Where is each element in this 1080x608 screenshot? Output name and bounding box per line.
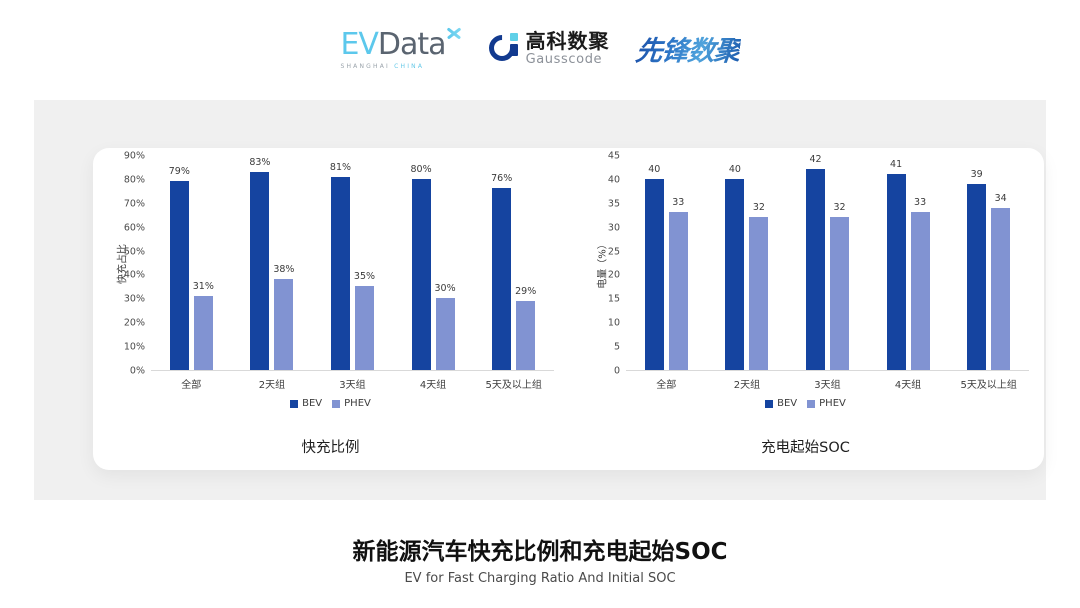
legend-swatch-icon [765, 400, 773, 408]
bar-value-label: 42 [809, 154, 821, 165]
y-tick-label: 45 [608, 151, 620, 162]
y-tick-label: 80% [124, 174, 145, 185]
bars-region: 40334032423241333934 [626, 156, 1029, 371]
bar-group: 76%29% [473, 156, 554, 370]
bar-bev[interactable]: 79% [170, 155, 189, 370]
y-tick-label: 35 [608, 198, 620, 209]
x-axis-labels: 全部2天组3天组4天组5天及以上组 [151, 376, 554, 391]
legend-swatch-icon [807, 400, 815, 408]
x-tick-label: 3天组 [312, 376, 393, 391]
x-tick-label: 2天组 [232, 376, 313, 391]
bar-fill [887, 174, 906, 370]
bar-value-label: 40 [648, 164, 660, 175]
evdata-logo: EV Data SHANGHAI CHINA [340, 27, 462, 70]
legend-item-phev[interactable]: PHEV [807, 398, 846, 409]
page-subtitle: EV for Fast Charging Ratio And Initial S… [0, 571, 1080, 586]
bar-fill [355, 286, 374, 370]
y-tick-label: 90% [124, 151, 145, 162]
bar-fill [806, 169, 825, 370]
chart-legend: BEVPHEV [568, 398, 1043, 409]
bar-value-label: 33 [914, 197, 926, 208]
chart-initial-soc: 电量（%）05101520253035404540334032423241333… [568, 148, 1043, 470]
bar-group: 4032 [707, 156, 788, 370]
y-tick-label: 0% [130, 366, 145, 377]
logo-bar: EV Data SHANGHAI CHINA 高科数聚 Gausscode 先锋… [0, 22, 1080, 74]
legend-item-phev[interactable]: PHEV [332, 398, 371, 409]
legend-label: BEV [777, 398, 797, 409]
y-tick-label: 10% [124, 342, 145, 353]
bar-bev[interactable]: 76% [492, 155, 511, 370]
bar-value-label: 81% [330, 162, 351, 173]
chart-caption: 充电起始SOC [568, 436, 1043, 457]
bar-bev[interactable]: 41 [887, 155, 906, 370]
y-axis-ticks: 051015202530354045 [590, 156, 624, 371]
bar-phev[interactable]: 30% [436, 155, 455, 370]
legend-label: PHEV [819, 398, 846, 409]
bar-fill [412, 179, 431, 370]
gausscode-logo: 高科数聚 Gausscode [489, 31, 610, 66]
xianfeng-logo: 先锋数聚 [634, 29, 742, 68]
bar-fill [830, 217, 849, 370]
bar-fill [725, 179, 744, 370]
bar-value-label: 31% [193, 281, 214, 292]
y-tick-label: 50% [124, 246, 145, 257]
bar-bev[interactable]: 83% [250, 155, 269, 370]
bar-fill [436, 298, 455, 370]
bar-phev[interactable]: 32 [830, 155, 849, 370]
x-tick-label: 5天及以上组 [948, 376, 1029, 391]
bar-fill [331, 177, 350, 371]
bar-phev[interactable]: 38% [274, 155, 293, 370]
legend-item-bev[interactable]: BEV [765, 398, 797, 409]
slide-root: EV Data SHANGHAI CHINA 高科数聚 Gausscode 先锋… [0, 0, 1080, 608]
gausscode-mark-icon [489, 33, 519, 63]
bar-phev[interactable]: 32 [749, 155, 768, 370]
x-tick-label: 3天组 [787, 376, 868, 391]
y-tick-label: 70% [124, 198, 145, 209]
legend-label: PHEV [344, 398, 371, 409]
page-title: 新能源汽车快充比例和充电起始SOC [0, 532, 1080, 566]
bar-fill [911, 212, 930, 370]
bar-value-label: 35% [354, 271, 375, 282]
bar-groups: 40334032423241333934 [626, 156, 1029, 370]
bar-bev[interactable]: 42 [806, 155, 825, 370]
evdata-tagline-city: SHANGHAI [340, 63, 390, 70]
bar-bev[interactable]: 39 [967, 155, 986, 370]
bar-group: 80%30% [393, 156, 474, 370]
y-tick-label: 15 [608, 294, 620, 305]
evdata-logo-tagline: SHANGHAI CHINA [340, 63, 424, 70]
bar-value-label: 76% [491, 173, 512, 184]
gausscode-logo-cn: 高科数聚 [526, 31, 610, 51]
y-tick-label: 25 [608, 246, 620, 257]
footer: 新能源汽车快充比例和充电起始SOC EV for Fast Charging R… [0, 532, 1080, 586]
legend-swatch-icon [290, 400, 298, 408]
legend-swatch-icon [332, 400, 340, 408]
bar-groups: 79%31%83%38%81%35%80%30%76%29% [151, 156, 554, 370]
bar-bev[interactable]: 40 [725, 155, 744, 370]
bars-region: 79%31%83%38%81%35%80%30%76%29% [151, 156, 554, 371]
bar-value-label: 40 [729, 164, 741, 175]
x-tick-label: 2天组 [707, 376, 788, 391]
y-tick-label: 40 [608, 174, 620, 185]
x-tick-label: 全部 [151, 376, 232, 391]
bar-value-label: 80% [411, 164, 432, 175]
bar-fill [991, 208, 1010, 370]
bar-value-label: 33 [672, 197, 684, 208]
y-tick-label: 60% [124, 222, 145, 233]
bar-fill [645, 179, 664, 370]
bar-phev[interactable]: 31% [194, 155, 213, 370]
charts-card: 快充占比0%10%20%30%40%50%60%70%80%90%79%31%8… [93, 148, 1044, 470]
bar-phev[interactable]: 29% [516, 155, 535, 370]
x-tick-label: 4天组 [393, 376, 474, 391]
bar-group: 4033 [626, 156, 707, 370]
bar-bev[interactable]: 40 [645, 155, 664, 370]
chart-legend: BEVPHEV [93, 398, 568, 409]
bar-fill [749, 217, 768, 370]
x-tick-label: 5天及以上组 [473, 376, 554, 391]
bar-value-label: 29% [515, 286, 536, 297]
bar-fill [250, 172, 269, 370]
x-mark-icon [443, 23, 463, 43]
legend-item-bev[interactable]: BEV [290, 398, 322, 409]
bar-phev[interactable]: 33 [911, 155, 930, 370]
bar-value-label: 79% [169, 166, 190, 177]
y-tick-label: 0 [614, 366, 620, 377]
x-tick-label: 4天组 [868, 376, 949, 391]
gausscode-logo-en: Gausscode [526, 53, 610, 66]
bar-value-label: 38% [273, 264, 294, 275]
chart-caption: 快充比例 [93, 436, 568, 457]
y-tick-label: 40% [124, 270, 145, 281]
bar-bev[interactable]: 80% [412, 155, 431, 370]
bar-fill [170, 181, 189, 370]
bar-value-label: 41 [890, 159, 902, 170]
evdata-logo-data-text: Data [378, 27, 446, 62]
bar-group: 79%31% [151, 156, 232, 370]
bar-fill [516, 301, 535, 370]
legend-label: BEV [302, 398, 322, 409]
bar-value-label: 34 [995, 193, 1007, 204]
plot-area-fast-charging-ratio: 快充占比0%10%20%30%40%50%60%70%80%90%79%31%8… [93, 156, 568, 371]
bar-phev[interactable]: 35% [355, 155, 374, 370]
y-tick-label: 20 [608, 270, 620, 281]
bar-fill [274, 279, 293, 370]
y-tick-label: 30 [608, 222, 620, 233]
bar-group: 4232 [787, 156, 868, 370]
bar-phev[interactable]: 34 [991, 155, 1010, 370]
bar-value-label: 30% [435, 283, 456, 294]
bar-fill [967, 184, 986, 370]
y-tick-label: 30% [124, 294, 145, 305]
bar-value-label: 39 [971, 169, 983, 180]
y-tick-label: 10 [608, 318, 620, 329]
y-axis-ticks: 0%10%20%30%40%50%60%70%80%90% [115, 156, 149, 371]
bar-value-label: 32 [833, 202, 845, 213]
bar-fill [669, 212, 688, 370]
charts-container: 快充占比0%10%20%30%40%50%60%70%80%90%79%31%8… [93, 148, 1044, 470]
bar-fill [492, 188, 511, 370]
y-tick-label: 20% [124, 318, 145, 329]
evdata-logo-ev-text: EV [340, 27, 377, 62]
bar-bev[interactable]: 81% [331, 155, 350, 370]
x-tick-label: 全部 [626, 376, 707, 391]
bar-group: 81%35% [312, 156, 393, 370]
chart-fast-charging-ratio: 快充占比0%10%20%30%40%50%60%70%80%90%79%31%8… [93, 148, 568, 470]
bar-phev[interactable]: 33 [669, 155, 688, 370]
bar-value-label: 32 [753, 202, 765, 213]
bar-group: 4133 [868, 156, 949, 370]
evdata-tagline-country: CHINA [394, 63, 424, 70]
bar-group: 83%38% [232, 156, 313, 370]
y-tick-label: 5 [614, 342, 620, 353]
bar-fill [194, 296, 213, 370]
plot-area-initial-soc: 电量（%）05101520253035404540334032423241333… [568, 156, 1043, 371]
x-axis-labels: 全部2天组3天组4天组5天及以上组 [626, 376, 1029, 391]
bar-value-label: 83% [249, 157, 270, 168]
bar-group: 3934 [948, 156, 1029, 370]
